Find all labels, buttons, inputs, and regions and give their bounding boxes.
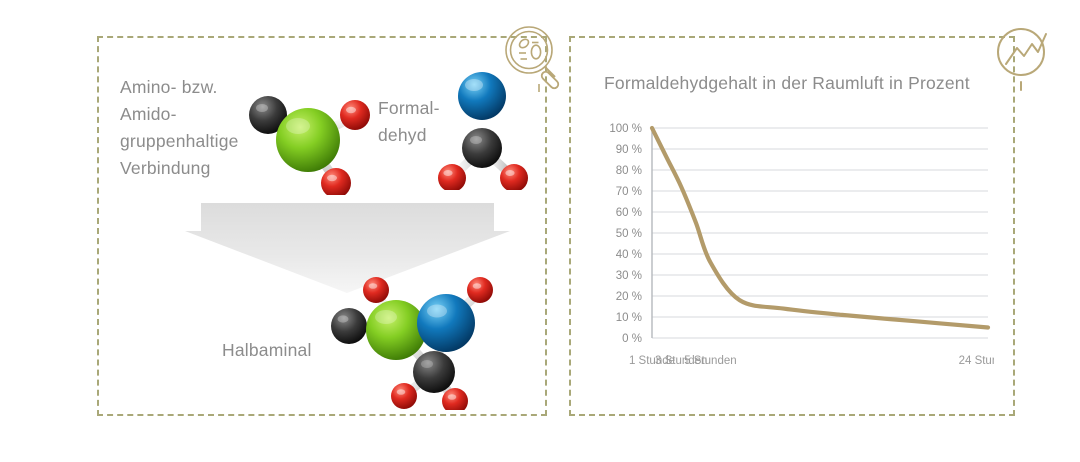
amino-compound-molecule: [238, 83, 370, 195]
y-axis-tick-label: 40 %: [616, 249, 642, 261]
y-axis-tick-label: 0 %: [622, 333, 642, 345]
y-axis-tick-label: 20 %: [616, 291, 642, 303]
trend-line-circle-icon: [988, 22, 1060, 94]
y-axis-tick-label: 90 %: [616, 144, 642, 156]
chart-title: Formaldehydgehalt in der Raumluft in Pro…: [604, 73, 970, 94]
y-axis-tick-label: 50 %: [616, 228, 642, 240]
x-axis-tick-label: 24 Stunden: [959, 355, 994, 367]
x-axis-tick-label: 5 Stunden: [684, 355, 736, 367]
chart-card: Formaldehydgehalt in der Raumluft in Pro…: [592, 60, 994, 380]
y-axis-tick-label: 60 %: [616, 207, 642, 219]
data-line: [652, 128, 988, 328]
y-axis-tick-label: 10 %: [616, 312, 642, 324]
y-axis-tick-label: 100 %: [609, 123, 642, 135]
y-axis-tick-label: 80 %: [616, 165, 642, 177]
y-axis-tick-label: 30 %: [616, 270, 642, 282]
product-label: Halbaminal: [222, 337, 312, 364]
formaldehyde-molecule: [434, 68, 530, 190]
y-axis-tick-label: 70 %: [616, 186, 642, 198]
page-root: Amino- bzw. Amido- gruppenhaltige Verbin…: [0, 0, 1080, 462]
halbaminal-molecule: [324, 268, 506, 410]
chart-plot: 100 %90 %80 %70 %60 %50 %40 %30 %20 %10 …: [592, 116, 994, 376]
